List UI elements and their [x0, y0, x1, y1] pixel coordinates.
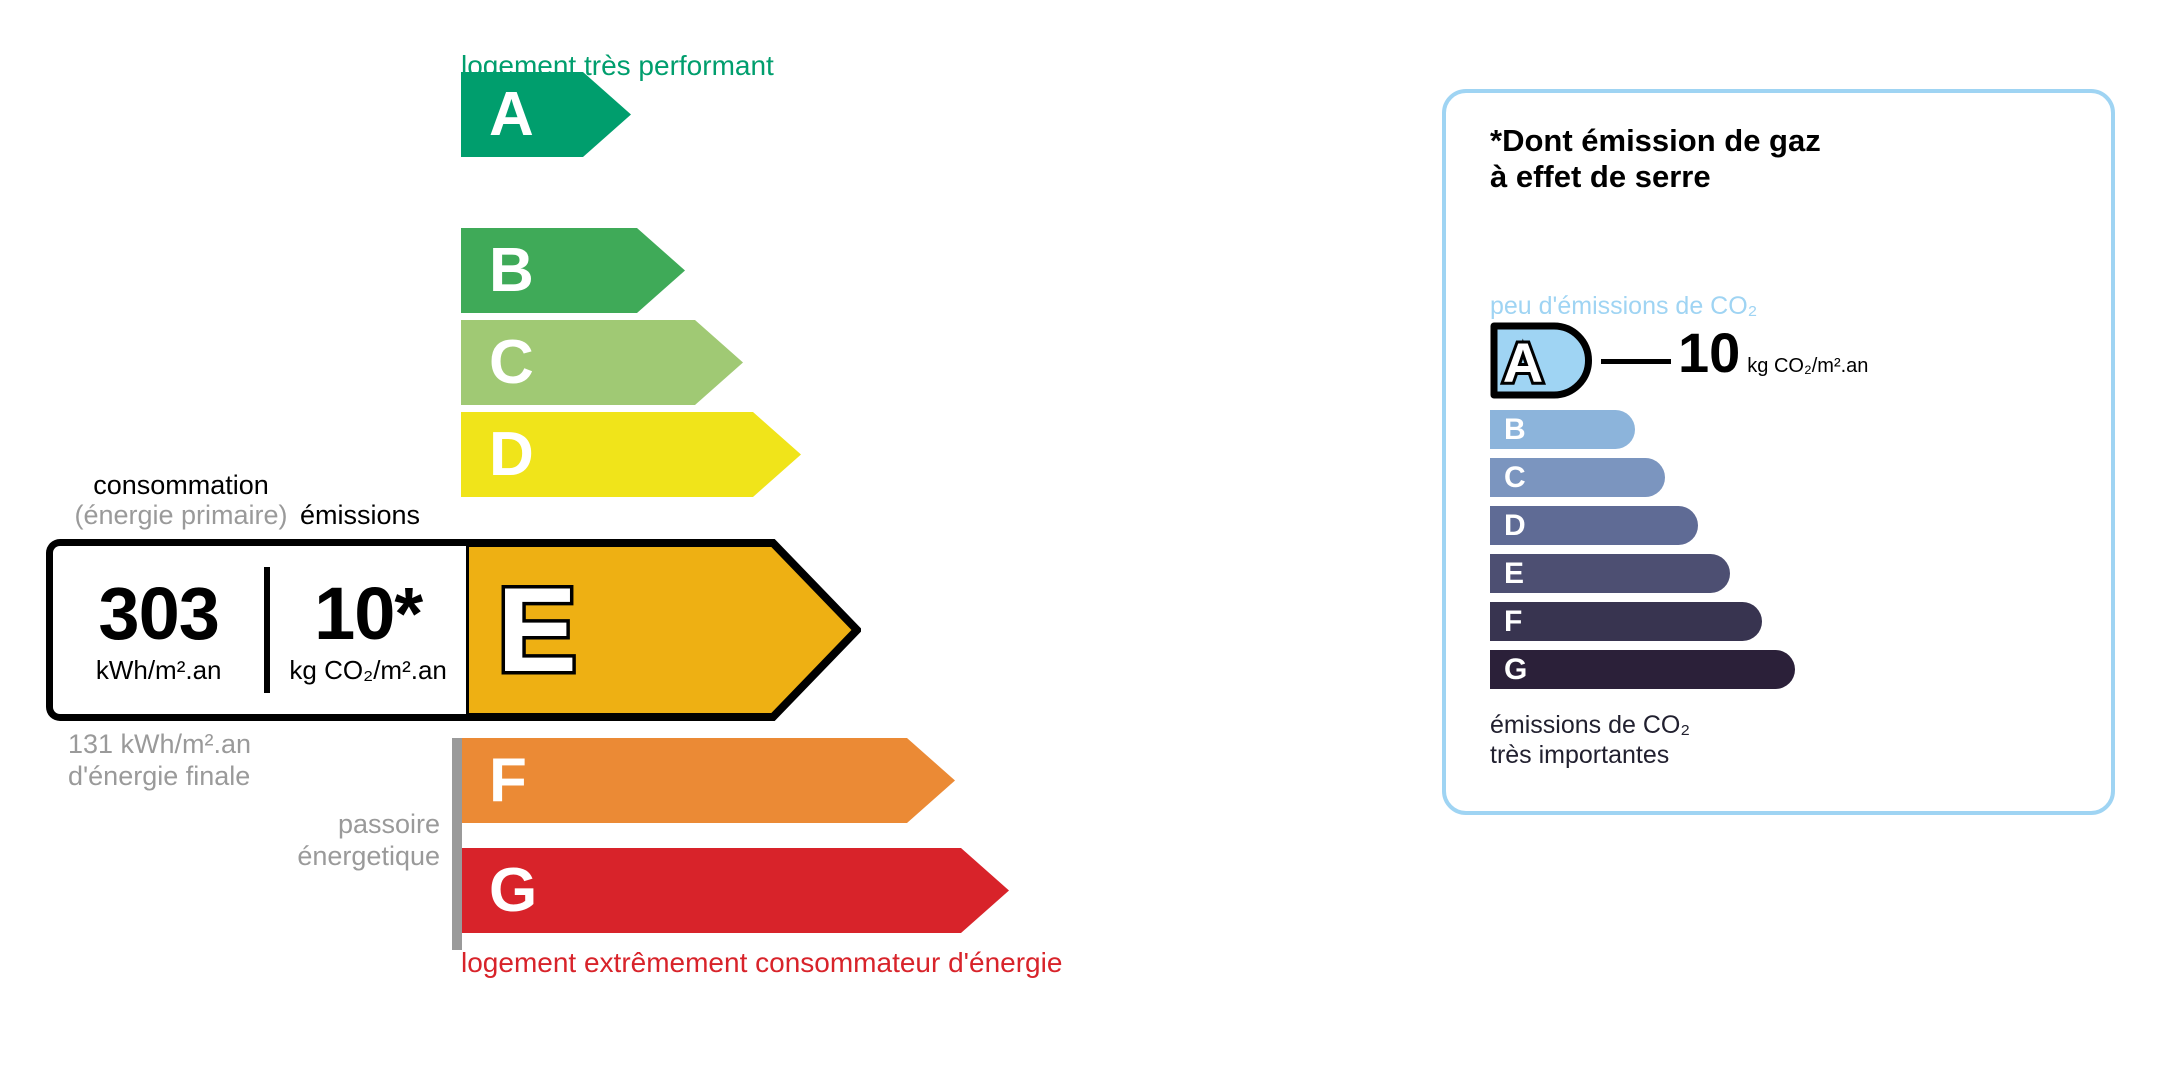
energy-class-row-b: B: [461, 228, 685, 313]
energy-class-letter-d: D: [489, 424, 534, 486]
co2-value-number: 10: [1678, 325, 1740, 381]
co2-bar-letter-g: G: [1504, 655, 1527, 685]
energy-class-row-f: F: [461, 738, 955, 823]
co2-bar-letter-e: E: [1504, 559, 1524, 589]
emission-value-cell: 10* kg CO₂/m².an: [270, 577, 466, 683]
dpe-energy-ladder: logement très performant ABCDFG E consom…: [0, 0, 1380, 1079]
energy-arrow-shape-a: [461, 72, 631, 157]
energy-class-row-a: A: [461, 72, 631, 157]
co2-bar-letter-f: F: [1504, 607, 1522, 637]
co2-top-caption: peu d'émissions de CO₂: [1490, 292, 1757, 321]
energy-class-letter-f: F: [489, 750, 527, 812]
energy-class-letter-g: G: [489, 860, 537, 922]
energy-arrow-b: B: [461, 228, 685, 313]
passoire-line1: passoire: [160, 808, 440, 840]
consumption-unit: kWh/m².an: [53, 657, 264, 683]
energy-arrow-shape-f: [461, 738, 955, 823]
co2-bar-b: B: [1490, 410, 1635, 449]
co2-bar-d: D: [1490, 506, 1698, 545]
consumption-value-cell: 303 kWh/m².an: [53, 577, 264, 683]
energy-arrow-c: C: [461, 320, 743, 405]
consommation-label: consommation (énergie primaire): [46, 470, 316, 530]
passoire-line2: énergetique: [160, 840, 440, 872]
co2-panel: *Dont émission de gaz à effet de serre p…: [1442, 89, 2115, 815]
co2-current-class-badge: A: [1490, 322, 1593, 399]
co2-bar-letter-d: D: [1504, 511, 1526, 541]
energy-arrow-a: A: [461, 72, 631, 157]
energy-class-row-d: D: [461, 412, 801, 497]
final-energy-line2: d'énergie finale: [68, 760, 251, 792]
final-energy-label: 131 kWh/m².an d'énergie finale: [68, 728, 251, 793]
energy-class-letter-a: A: [489, 84, 534, 146]
co2-bottom-caption-line1: émissions de CO₂: [1490, 711, 1690, 741]
energy-class-letter-b: B: [489, 240, 534, 302]
value-box: 303 kWh/m².an 10* kg CO₂/m².an: [46, 539, 466, 721]
energy-class-row-g: G: [461, 848, 1009, 933]
energy-arrow-d: D: [461, 412, 801, 497]
energy-class-row-c: C: [461, 320, 743, 405]
co2-bar-g: G: [1490, 650, 1795, 689]
consumption-number: 303: [53, 577, 264, 651]
energy-arrow-g: G: [461, 848, 1009, 933]
passoire-label: passoire énergetique: [160, 808, 440, 873]
co2-connector-line: [1601, 359, 1671, 364]
svg-text:A: A: [1503, 331, 1543, 394]
co2-bar-letter-c: C: [1504, 463, 1526, 493]
consommation-label-sub: (énergie primaire): [46, 500, 316, 530]
bottom-caption: logement extrêmement consommateur d'éner…: [461, 947, 1062, 979]
co2-bar-f: F: [1490, 602, 1762, 641]
co2-value-group: 10 kg CO₂/m².an: [1678, 325, 1868, 381]
co2-bar-letter-b: B: [1504, 415, 1526, 445]
consommation-label-main: consommation: [46, 470, 316, 500]
co2-panel-title: *Dont émission de gaz à effet de serre: [1490, 123, 1821, 195]
energy-class-row-current: E: [461, 539, 861, 721]
emission-number: 10*: [270, 577, 466, 651]
co2-bar-c: C: [1490, 458, 1665, 497]
emissions-label: émissions: [300, 500, 420, 531]
co2-value-unit: kg CO₂/m².an: [1747, 355, 1868, 378]
co2-bottom-caption: émissions de CO₂ très importantes: [1490, 711, 1690, 770]
co2-badge-shape: A: [1490, 322, 1593, 399]
co2-title-line2: à effet de serre: [1490, 159, 1821, 195]
co2-title-line1: *Dont émission de gaz: [1490, 123, 1821, 159]
energy-arrow-f: F: [461, 738, 955, 823]
co2-bar-e: E: [1490, 554, 1730, 593]
energy-arrow-shape-g: [461, 848, 1009, 933]
passoire-bracket-bar: [452, 738, 462, 950]
energy-class-letter-c: C: [489, 332, 534, 394]
final-energy-line1: 131 kWh/m².an: [68, 728, 251, 760]
energy-class-letter-e: E: [497, 570, 577, 690]
emission-unit: kg CO₂/m².an: [270, 657, 466, 683]
co2-bottom-caption-line2: très importantes: [1490, 741, 1690, 771]
